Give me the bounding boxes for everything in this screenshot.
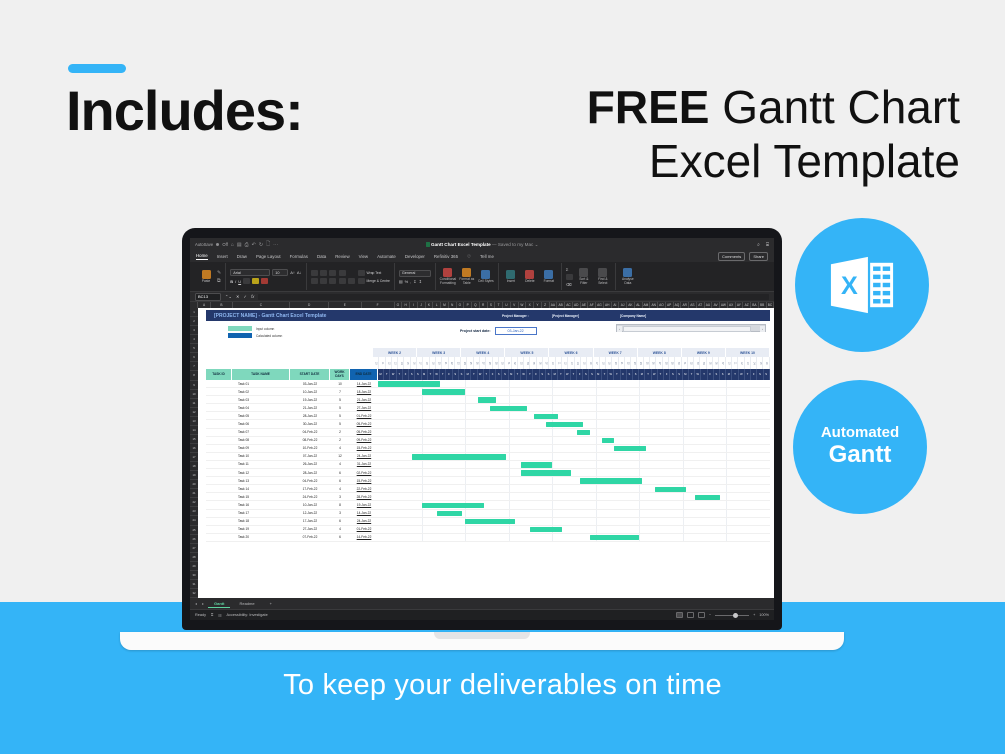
task-work-days[interactable]: 8 [330, 501, 350, 508]
tab-draw[interactable]: Draw [237, 254, 247, 259]
next-sheet-icon[interactable]: ▸ [201, 601, 205, 606]
insert-label: Insert [507, 280, 515, 283]
gantt-bar[interactable] [521, 470, 571, 475]
fill-color-icon[interactable] [252, 278, 259, 284]
task-start-date[interactable]: 04-Feb-22 [290, 429, 330, 436]
format-cells-button[interactable]: Format [541, 270, 557, 283]
table-row[interactable]: Task 1712-Jan-22314-Jan-22 [206, 510, 770, 518]
row-header-3[interactable]: 3 [190, 326, 198, 335]
gantt-gridline [509, 469, 510, 476]
task-start-date[interactable]: 10-Feb-22 [290, 445, 330, 452]
formula-input[interactable] [258, 294, 769, 300]
table-row[interactable]: Task 1304-Feb-22615-Feb-22 [206, 477, 770, 485]
task-work-days[interactable]: 10 [330, 380, 350, 387]
comments-button[interactable]: Comments [718, 252, 745, 261]
gantt-bar[interactable] [546, 422, 583, 427]
gantt-bar[interactable] [534, 414, 559, 419]
task-end-date[interactable]: 09-Feb-22 [350, 437, 378, 444]
table-row[interactable]: Task 1126-Jan-22431-Jan-22 [206, 461, 770, 469]
gantt-row-area [378, 404, 770, 411]
task-id[interactable] [206, 380, 232, 387]
task-start-date[interactable]: 07-Feb-22 [290, 534, 330, 541]
task-end-date[interactable]: 02-Feb-22 [350, 469, 378, 476]
task-end-date[interactable]: 05-Feb-22 [350, 429, 378, 436]
font-name-select[interactable]: Arial [230, 269, 270, 276]
conditional-formatting-button[interactable]: Conditional Formatting [440, 268, 456, 285]
table-row[interactable]: Task 1524-Feb-22328-Feb-22 [206, 493, 770, 501]
task-name[interactable]: Task 01 [232, 380, 290, 387]
gantt-bar[interactable] [412, 454, 505, 459]
task-name[interactable]: Task 12 [232, 469, 290, 476]
decrease-font-icon[interactable]: A↓ [297, 270, 302, 275]
task-start-date[interactable]: 03-Jan-22 [290, 380, 330, 387]
task-end-date[interactable]: 31-Jan-22 [350, 461, 378, 468]
task-start-date[interactable]: 17-Feb-22 [290, 485, 330, 492]
task-work-days[interactable]: 4 [330, 445, 350, 452]
align-top-icon[interactable] [311, 270, 318, 276]
table-row[interactable]: Task 0421-Jan-22527-Jan-22 [206, 404, 770, 412]
row-header-26[interactable]: 26 [190, 535, 198, 544]
row-header-1[interactable]: 1 [190, 308, 198, 317]
task-id[interactable] [206, 453, 232, 460]
table-row[interactable]: Task 1417-Feb-22422-Feb-22 [206, 485, 770, 493]
task-work-days[interactable]: 7 [330, 388, 350, 395]
task-start-date[interactable]: 27-Jan-22 [290, 526, 330, 533]
task-start-date[interactable]: 30-Jan-22 [290, 420, 330, 427]
task-name[interactable]: Task 20 [232, 534, 290, 541]
gantt-bar[interactable] [422, 389, 466, 394]
row-header-9[interactable]: 9 [190, 381, 198, 390]
task-name[interactable]: Task 09 [232, 445, 290, 452]
autosave-toggle[interactable] [216, 243, 219, 246]
tab-automate[interactable]: Automate [377, 254, 396, 259]
task-name[interactable]: Task 17 [232, 510, 290, 517]
cell-styles-button[interactable]: Cell Styles [478, 270, 494, 283]
task-id[interactable] [206, 501, 232, 508]
task-work-days[interactable]: 5 [330, 420, 350, 427]
task-name[interactable]: Task 14 [232, 485, 290, 492]
gantt-gridline [639, 510, 640, 517]
redo-icon[interactable]: ↻ [259, 242, 263, 248]
gantt-bar[interactable] [655, 487, 686, 492]
delete-cells-button[interactable]: Delete [522, 270, 538, 283]
gantt-bar[interactable] [602, 438, 614, 443]
tab-review[interactable]: Review [335, 254, 349, 259]
task-end-date[interactable]: 01-Feb-22 [350, 526, 378, 533]
format-icon [544, 270, 553, 279]
task-end-date[interactable]: 28-Feb-22 [350, 493, 378, 500]
home-icon[interactable]: ⌂ [231, 242, 234, 248]
increase-decimal-icon[interactable]: ↧ [413, 279, 416, 284]
align-right-icon[interactable] [329, 278, 336, 284]
task-name[interactable]: Task 15 [232, 493, 290, 500]
tab-refinitiv[interactable]: Refinitiv 365 [434, 254, 458, 259]
gantt-bar[interactable] [490, 406, 527, 411]
task-id[interactable] [206, 396, 232, 403]
task-id[interactable] [206, 461, 232, 468]
gantt-gridline [639, 518, 640, 525]
zoom-slider-knob[interactable] [733, 613, 738, 618]
tab-insert[interactable]: Insert [217, 254, 228, 259]
autosum-icon[interactable]: Σ [566, 267, 568, 272]
row-header-2[interactable]: 2 [190, 317, 198, 326]
row-header-6[interactable]: 6 [190, 353, 198, 362]
row-header-16[interactable]: 16 [190, 444, 198, 453]
task-name[interactable]: Task 03 [232, 396, 290, 403]
gantt-gridline [552, 461, 553, 468]
tab-formulas[interactable]: Formulas [290, 254, 308, 259]
increase-font-icon[interactable]: A↑ [290, 270, 295, 275]
task-id[interactable] [206, 518, 232, 525]
row-header-11[interactable]: 11 [190, 399, 198, 408]
zoom-level[interactable]: 100% [759, 613, 769, 617]
format-as-table-button[interactable]: Format as Table [459, 268, 475, 285]
row-header-18[interactable]: 18 [190, 462, 198, 471]
task-work-days[interactable]: 5 [330, 412, 350, 419]
orientation-icon[interactable] [339, 270, 346, 276]
task-end-date[interactable]: 22-Feb-22 [350, 485, 378, 492]
number-format-select[interactable]: General [399, 270, 431, 277]
start-date-input[interactable]: 03-Jan-22 [495, 327, 537, 335]
cancel-entry-icon[interactable]: ✕ [236, 294, 240, 299]
task-work-days[interactable]: 4 [330, 526, 350, 533]
row-header-8[interactable]: 8 [190, 371, 198, 380]
timeline-scrollbar[interactable]: ‹ › [616, 324, 766, 332]
task-start-date[interactable]: 10-Jan-22 [290, 501, 330, 508]
task-work-days[interactable]: 6 [330, 534, 350, 541]
accessibility-status[interactable]: Accessibility: Investigate [227, 613, 268, 617]
gantt-bar[interactable] [422, 503, 484, 508]
table-row[interactable]: Task 0103-Jan-221014-Jan-22 [206, 380, 770, 388]
borders-icon[interactable] [243, 278, 250, 284]
tab-data[interactable]: Data [317, 254, 326, 259]
sheet-tab-readme[interactable]: Readme [233, 600, 260, 607]
task-work-days[interactable]: 2 [330, 437, 350, 444]
task-end-date[interactable]: 18-Jan-22 [350, 388, 378, 395]
align-left-icon[interactable] [311, 278, 318, 284]
gantt-gridline [422, 477, 423, 484]
gantt-label: Gantt [829, 441, 892, 469]
status-bar: Ready ⌗ ☷ Accessibility: Investigate − +… [190, 609, 774, 620]
gantt-gridline [422, 429, 423, 436]
task-name[interactable]: Task 16 [232, 501, 290, 508]
task-start-date[interactable]: 28-Jan-22 [290, 412, 330, 419]
table-row[interactable]: Task 1817-Jan-22624-Jan-22 [206, 518, 770, 526]
ribbon-options-icon[interactable]: ⌸ [766, 242, 769, 248]
row-header-7[interactable]: 7 [190, 362, 198, 371]
row-header-28[interactable]: 28 [190, 553, 198, 562]
task-id[interactable] [206, 510, 232, 517]
tab-home[interactable]: Home [196, 253, 208, 260]
task-name[interactable]: Task 19 [232, 526, 290, 533]
task-name[interactable]: Task 02 [232, 388, 290, 395]
table-row[interactable]: Task 0319-Jan-22521-Jan-22 [206, 396, 770, 404]
gantt-gridline [726, 388, 727, 395]
gantt-bar[interactable] [478, 397, 497, 402]
sheet-tab-gantt[interactable]: Gantt [208, 600, 230, 608]
row-header-31[interactable]: 31 [190, 580, 198, 589]
table-row[interactable]: Task 1228-Jan-22602-Feb-22 [206, 469, 770, 477]
project-manager-value[interactable]: [Project Manager] [552, 314, 579, 318]
task-name[interactable]: Task 04 [232, 404, 290, 411]
fill-icon[interactable] [566, 274, 573, 280]
task-name[interactable]: Task 11 [232, 461, 290, 468]
insert-cells-button[interactable]: Insert [503, 270, 519, 283]
gantt-bar[interactable] [577, 430, 589, 435]
insert-function-icon[interactable]: fx [251, 294, 254, 299]
task-work-days[interactable]: 2 [330, 429, 350, 436]
decrease-decimal-icon[interactable]: ↥ [419, 279, 422, 284]
align-center-icon[interactable] [320, 278, 327, 284]
table-row[interactable]: Task 0910-Feb-22415-Feb-22 [206, 445, 770, 453]
task-start-date[interactable]: 21-Jan-22 [290, 404, 330, 411]
scroll-right-icon[interactable]: › [760, 326, 765, 332]
row-header-30[interactable]: 30 [190, 571, 198, 580]
row-header-17[interactable]: 17 [190, 453, 198, 462]
row-header-13[interactable]: 13 [190, 417, 198, 426]
task-id[interactable] [206, 445, 232, 452]
task-id[interactable] [206, 477, 232, 484]
gantt-gridline [422, 445, 423, 452]
task-work-days[interactable]: 3 [330, 510, 350, 517]
name-box-stepper[interactable]: ⌃⌄ [225, 294, 232, 299]
task-id[interactable] [206, 493, 232, 500]
tab-view[interactable]: View [359, 254, 368, 259]
gantt-gridline [683, 493, 684, 500]
gantt-gridline [683, 429, 684, 436]
row-header-23[interactable]: 23 [190, 507, 198, 516]
font-size-select[interactable]: 10 [272, 269, 288, 276]
gantt-bar[interactable] [521, 462, 552, 467]
align-middle-icon[interactable] [320, 270, 327, 276]
comma-icon[interactable]: , [410, 279, 411, 284]
wrap-text-button[interactable]: Wrap Text [367, 271, 382, 275]
task-start-date[interactable]: 17-Jan-22 [290, 518, 330, 525]
task-id[interactable] [206, 404, 232, 411]
font-color-icon[interactable] [261, 278, 268, 284]
company-name-value[interactable]: [Company Name] [620, 314, 646, 318]
normal-view-icon[interactable] [676, 612, 683, 618]
gantt-gridline [509, 501, 510, 508]
page-break-view-icon[interactable] [698, 612, 705, 618]
gantt-gridline [422, 437, 423, 444]
table-row[interactable]: Task 1927-Jan-22401-Feb-22 [206, 526, 770, 534]
find-select-button[interactable]: Find & Select [595, 268, 611, 285]
gantt-bar[interactable] [590, 535, 640, 540]
increase-indent-icon[interactable] [348, 278, 355, 284]
table-row[interactable]: Task 1610-Jan-22819-Jan-22 [206, 501, 770, 509]
task-work-days[interactable]: 4 [330, 461, 350, 468]
task-id[interactable] [206, 412, 232, 419]
task-id[interactable] [206, 469, 232, 476]
share-button[interactable]: Share [749, 252, 768, 261]
search-icon[interactable]: ⌕ [757, 242, 760, 248]
task-start-date[interactable]: 08-Feb-22 [290, 437, 330, 444]
row-header-12[interactable]: 12 [190, 408, 198, 417]
task-work-days[interactable]: 5 [330, 404, 350, 411]
gantt-gridline [683, 404, 684, 411]
confirm-entry-icon[interactable]: ✓ [244, 294, 248, 299]
row-header-21[interactable]: 21 [190, 489, 198, 498]
gantt-row-area [378, 510, 770, 517]
italic-button[interactable]: I [235, 279, 236, 284]
task-name[interactable]: Task 10 [232, 453, 290, 460]
align-bottom-icon[interactable] [329, 270, 336, 276]
gantt-gridline [726, 420, 727, 427]
gantt-bar[interactable] [580, 478, 642, 483]
row-header-15[interactable]: 15 [190, 435, 198, 444]
row-header-27[interactable]: 27 [190, 544, 198, 553]
row-header-10[interactable]: 10 [190, 390, 198, 399]
table-row[interactable]: Task 0630-Jan-22505-Feb-22 [206, 420, 770, 428]
task-work-days[interactable]: 4 [330, 485, 350, 492]
task-start-date[interactable]: 19-Jan-22 [290, 396, 330, 403]
task-end-date[interactable]: 21-Jan-22 [350, 396, 378, 403]
task-id[interactable] [206, 485, 232, 492]
zoom-slider[interactable] [715, 615, 749, 616]
task-work-days[interactable]: 6 [330, 469, 350, 476]
more-icon[interactable]: ⋯ [273, 242, 278, 248]
delete-label: Delete [525, 280, 535, 283]
table-row[interactable]: Task 2007-Feb-22614-Feb-22 [206, 534, 770, 542]
headline-free: FREE [587, 81, 710, 133]
task-name[interactable]: Task 06 [232, 420, 290, 427]
tab-developer[interactable]: Developer [405, 254, 425, 259]
page-layout-view-icon[interactable] [687, 612, 694, 618]
task-start-date[interactable]: 07-Jan-22 [290, 453, 330, 460]
task-end-date[interactable]: 05-Feb-22 [350, 420, 378, 427]
print-icon[interactable]: ⎙ [245, 242, 249, 248]
previous-sheet-icon[interactable]: ◂ [194, 601, 198, 606]
task-name[interactable]: Task 08 [232, 437, 290, 444]
format-painter-icon[interactable]: ✎ [217, 270, 221, 276]
gantt-gridline [639, 404, 640, 411]
task-start-date[interactable]: 24-Feb-22 [290, 493, 330, 500]
percent-icon[interactable]: % [405, 279, 409, 284]
gantt-gridline [683, 501, 684, 508]
gantt-gridline [726, 445, 727, 452]
task-id[interactable] [206, 429, 232, 436]
task-end-date[interactable]: 27-Jan-22 [350, 404, 378, 411]
task-start-date[interactable]: 04-Feb-22 [290, 477, 330, 484]
decrease-indent-icon[interactable] [339, 278, 346, 284]
undo-icon[interactable]: ↶ [252, 242, 256, 248]
row-header-22[interactable]: 22 [190, 498, 198, 507]
row-header-4[interactable]: 4 [190, 335, 198, 344]
gantt-bar[interactable] [614, 446, 645, 451]
task-work-days[interactable]: 12 [330, 453, 350, 460]
task-start-date[interactable]: 10-Jan-22 [290, 388, 330, 395]
title-chevron-down-icon[interactable]: ⌄ [535, 242, 539, 247]
tab-tell-me[interactable]: Tell me [480, 254, 494, 259]
task-work-days[interactable]: 6 [330, 477, 350, 484]
row-header-32[interactable]: 32 [190, 589, 198, 598]
gantt-bar[interactable] [378, 381, 440, 386]
tab-page-layout[interactable]: Page Layout [256, 254, 281, 259]
row-header-20[interactable]: 20 [190, 480, 198, 489]
task-work-days[interactable]: 6 [330, 518, 350, 525]
table-row[interactable]: Task 0704-Feb-22205-Feb-22 [206, 429, 770, 437]
save-icon[interactable]: ▤ [237, 242, 242, 248]
row-header-14[interactable]: 14 [190, 426, 198, 435]
gantt-bar[interactable] [530, 527, 561, 532]
table-row[interactable]: Task 0528-Jan-22501-Feb-22 [206, 412, 770, 420]
zoom-in-icon[interactable]: + [753, 613, 755, 617]
row-header-24[interactable]: 24 [190, 516, 198, 525]
copy-icon[interactable]: ⧉ [217, 278, 221, 284]
task-start-date[interactable]: 26-Jan-22 [290, 461, 330, 468]
name-box[interactable]: BC13 [195, 293, 221, 301]
row-header-29[interactable]: 29 [190, 562, 198, 571]
title-bar: AutoSave Off ⌂ ▤ ⎙ ↶ ↻ 🗋 ⋯ Gantt Chart E… [190, 238, 774, 251]
task-id[interactable] [206, 437, 232, 444]
analyse-data-button[interactable]: Analyse Data [620, 268, 636, 285]
table-row[interactable]: Task 1007-Jan-221224-Jan-22 [206, 453, 770, 461]
scrollbar-thumb[interactable] [623, 326, 751, 332]
task-end-date[interactable]: 14-Feb-22 [350, 534, 378, 541]
add-sheet-button[interactable]: + [264, 600, 278, 607]
task-id[interactable] [206, 534, 232, 541]
sort-filter-button[interactable]: Sort & Filter [576, 268, 592, 285]
task-end-date[interactable]: 14-Jan-22 [350, 380, 378, 387]
task-start-date[interactable]: 12-Jan-22 [290, 510, 330, 517]
task-end-date[interactable]: 15-Feb-22 [350, 445, 378, 452]
gantt-gridline [552, 429, 553, 436]
task-id[interactable] [206, 526, 232, 533]
week-header-4: WEEK 4 [461, 348, 505, 357]
task-work-days[interactable]: 5 [330, 396, 350, 403]
task-name[interactable]: Task 13 [232, 477, 290, 484]
task-work-days[interactable]: 3 [330, 493, 350, 500]
clear-icon[interactable]: ⌫ [566, 282, 572, 287]
task-end-date[interactable]: 24-Jan-22 [350, 453, 378, 460]
task-end-date[interactable]: 14-Jan-22 [350, 510, 378, 517]
underline-button[interactable]: U [238, 279, 241, 284]
task-start-date[interactable]: 28-Jan-22 [290, 469, 330, 476]
gantt-bar[interactable] [695, 495, 720, 500]
task-end-date[interactable]: 24-Jan-22 [350, 518, 378, 525]
zoom-out-icon[interactable]: − [709, 613, 711, 617]
row-header-25[interactable]: 25 [190, 526, 198, 535]
row-header-5[interactable]: 5 [190, 344, 198, 353]
gantt-gridline [683, 420, 684, 427]
bold-button[interactable]: B [230, 279, 233, 284]
tell-me-bulb-icon[interactable]: ♡ [467, 254, 471, 260]
merge-centre-button[interactable]: Merge & Centre [367, 279, 390, 283]
row-header-19[interactable]: 19 [190, 471, 198, 480]
gantt-bar[interactable] [437, 511, 462, 516]
task-end-date[interactable]: 19-Jan-22 [350, 501, 378, 508]
autosave-label[interactable]: AutoSave [195, 242, 213, 247]
gantt-row-area [378, 412, 770, 419]
project-start-date: Project start date: 03-Jan-22 [460, 327, 537, 335]
task-name[interactable]: Task 07 [232, 429, 290, 436]
gantt-bar[interactable] [465, 519, 515, 524]
task-table-header: TASK ID TASK NAME START DATE WORK DAYS E… [206, 369, 770, 380]
task-name[interactable]: Task 05 [232, 412, 290, 419]
currency-icon[interactable]: ▤ [399, 279, 403, 284]
paste-button[interactable]: Paste [198, 270, 214, 283]
task-name[interactable]: Task 18 [232, 518, 290, 525]
new-file-icon[interactable]: 🗋 [266, 241, 270, 249]
scroll-left-icon[interactable]: ‹ [617, 326, 622, 332]
task-id[interactable] [206, 388, 232, 395]
table-row[interactable]: Task 0210-Jan-22718-Jan-22 [206, 388, 770, 396]
task-id[interactable] [206, 420, 232, 427]
task-end-date[interactable]: 01-Feb-22 [350, 412, 378, 419]
task-end-date[interactable]: 15-Feb-22 [350, 477, 378, 484]
table-row[interactable]: Task 0808-Feb-22209-Feb-22 [206, 437, 770, 445]
